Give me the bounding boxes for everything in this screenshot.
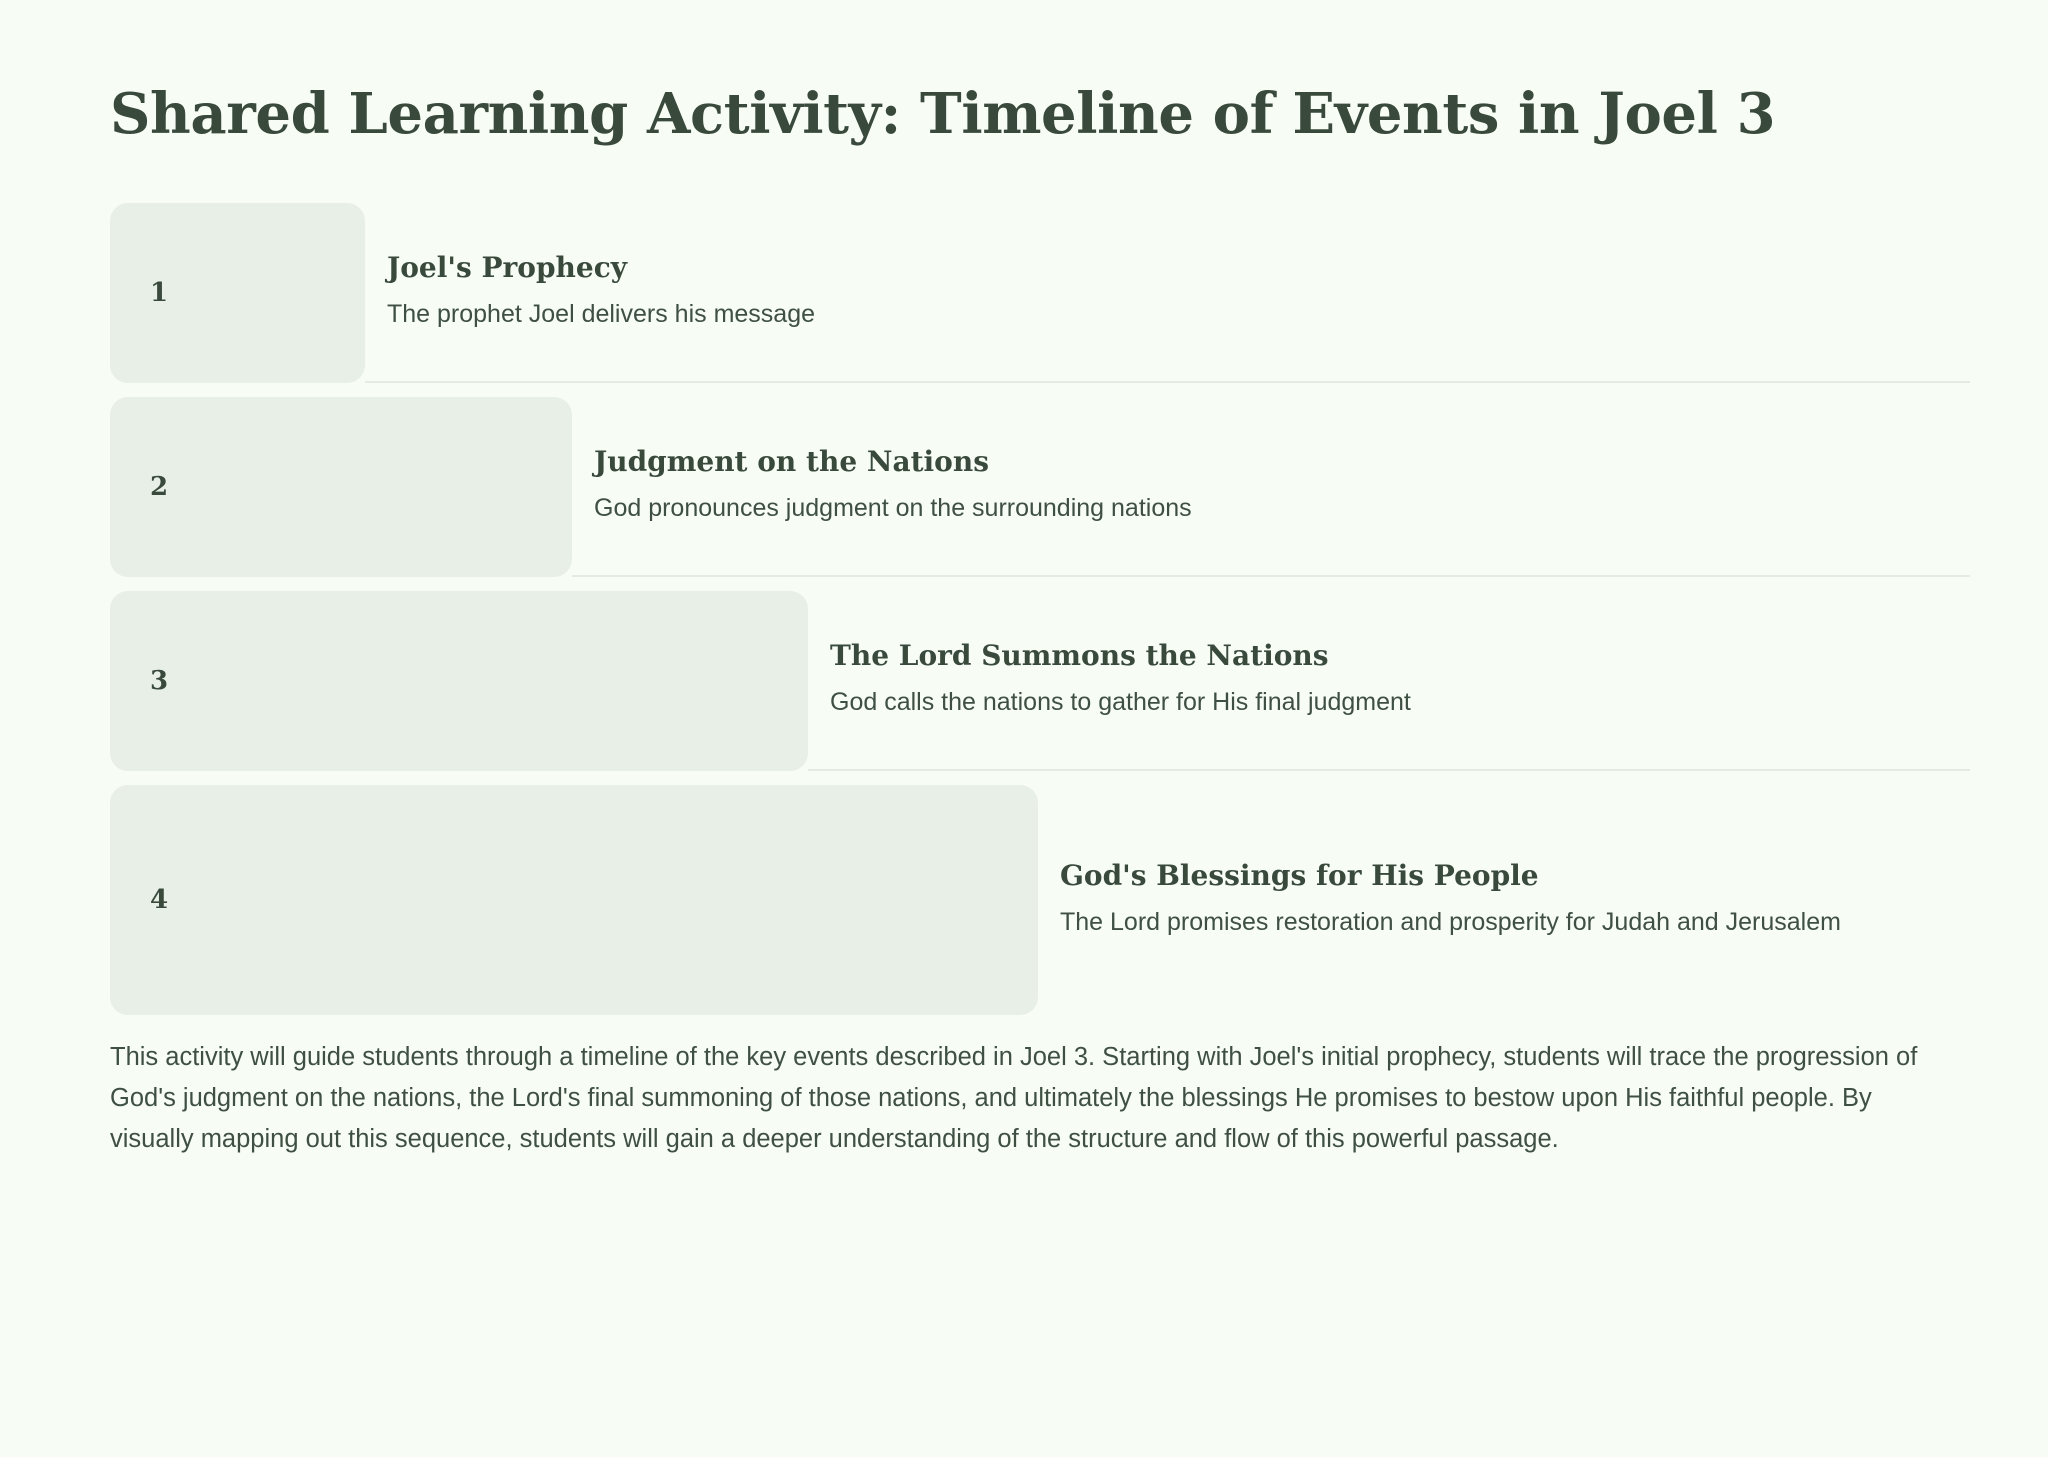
timeline-row-body: Judgment on the Nations God pronounces j… bbox=[572, 397, 1970, 577]
timeline-row[interactable]: 3 The Lord Summons the Nations God calls… bbox=[110, 591, 1970, 771]
timeline-bar: 1 bbox=[110, 203, 365, 383]
timeline-bar: 3 bbox=[110, 591, 808, 771]
timeline-step-number: 2 bbox=[110, 472, 168, 502]
timeline-step-number: 4 bbox=[110, 885, 168, 915]
timeline-event-title: God's Blessings for His People bbox=[1060, 858, 1970, 893]
timeline-event-title: Judgment on the Nations bbox=[594, 444, 1970, 479]
timeline-row[interactable]: 4 God's Blessings for His People The Lor… bbox=[110, 785, 1970, 1015]
timeline-row-body: The Lord Summons the Nations God calls t… bbox=[808, 591, 1970, 771]
timeline-event-description: The Lord promises restoration and prospe… bbox=[1060, 903, 1890, 941]
page-title: Shared Learning Activity: Timeline of Ev… bbox=[110, 0, 1938, 151]
timeline-list: 1 Joel's Prophecy The prophet Joel deliv… bbox=[110, 203, 1938, 1015]
timeline-row-body: Joel's Prophecy The prophet Joel deliver… bbox=[365, 203, 1970, 383]
timeline-bar: 4 bbox=[110, 785, 1038, 1015]
timeline-bar: 2 bbox=[110, 397, 572, 577]
timeline-event-description: God pronounces judgment on the surroundi… bbox=[594, 489, 1694, 527]
timeline-step-number: 3 bbox=[110, 666, 168, 696]
page-root: Shared Learning Activity: Timeline of Ev… bbox=[0, 0, 2048, 1457]
timeline-step-number: 1 bbox=[110, 278, 168, 308]
timeline-row[interactable]: 2 Judgment on the Nations God pronounces… bbox=[110, 397, 1970, 577]
timeline-row[interactable]: 1 Joel's Prophecy The prophet Joel deliv… bbox=[110, 203, 1970, 383]
timeline-event-description: The prophet Joel delivers his message bbox=[387, 295, 1487, 333]
timeline-event-title: The Lord Summons the Nations bbox=[830, 638, 1970, 673]
timeline-event-description: God calls the nations to gather for His … bbox=[830, 683, 1930, 721]
timeline-event-title: Joel's Prophecy bbox=[387, 250, 1970, 285]
activity-summary-paragraph: This activity will guide students throug… bbox=[110, 1037, 1950, 1161]
timeline-row-body: God's Blessings for His People The Lord … bbox=[1038, 785, 1970, 1015]
